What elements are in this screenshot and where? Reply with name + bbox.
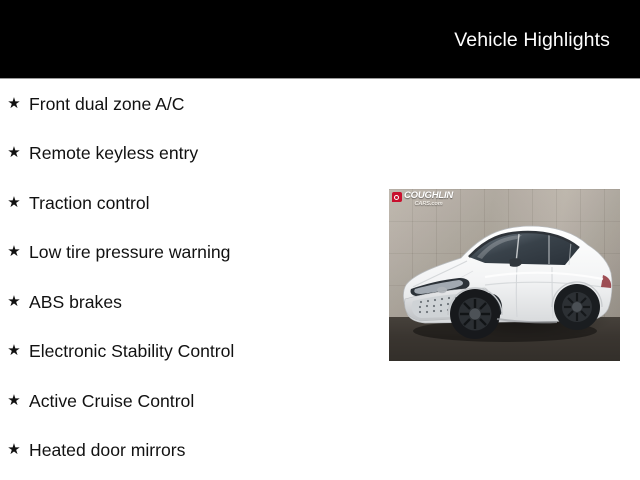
coughlin-badge-icon [392,192,402,202]
header-bar: Vehicle Highlights [0,0,640,78]
list-item: ★ Remote keyless entry [0,129,380,179]
highlight-label: Traction control [29,193,150,213]
highlight-label: Active Cruise Control [29,391,194,411]
page-title: Vehicle Highlights [454,29,610,51]
vehicle-highlights-page: Vehicle Highlights ★ Front dual zone A/C… [0,0,640,480]
highlight-label: Front dual zone A/C [29,94,185,114]
watermark-text: COUGHLIN CARS.com [404,191,453,207]
photo-watermark: COUGHLIN CARS.com [392,191,453,207]
star-icon: ★ [7,343,21,359]
star-icon: ★ [7,294,21,310]
car-illustration [389,189,620,361]
list-item: ★ Heated door mirrors [0,426,380,476]
highlight-label: Low tire pressure warning [29,242,230,262]
list-item: ★ ABS brakes [0,277,380,327]
list-item: ★ Low tire pressure warning [0,228,380,278]
star-icon: ★ [7,442,21,458]
highlights-list: ★ Front dual zone A/C ★ Remote keyless e… [0,79,380,475]
list-item: ★ Front dual zone A/C [0,79,380,129]
highlight-label: Electronic Stability Control [29,341,234,361]
highlight-label: ABS brakes [29,292,122,312]
highlight-label: Remote keyless entry [29,143,198,163]
vehicle-photo: COUGHLIN CARS.com [389,189,620,361]
list-item: ★ Active Cruise Control [0,376,380,426]
list-item: ★ Traction control [0,178,380,228]
star-icon: ★ [7,393,21,409]
watermark-secondary-text: CARS.com [404,202,453,208]
watermark-primary-text: COUGHLIN [404,191,453,201]
star-icon: ★ [7,145,21,161]
list-item: ★ Electronic Stability Control [0,327,380,377]
star-icon: ★ [7,96,21,112]
star-icon: ★ [7,195,21,211]
highlight-label: Heated door mirrors [29,440,185,460]
star-icon: ★ [7,244,21,260]
